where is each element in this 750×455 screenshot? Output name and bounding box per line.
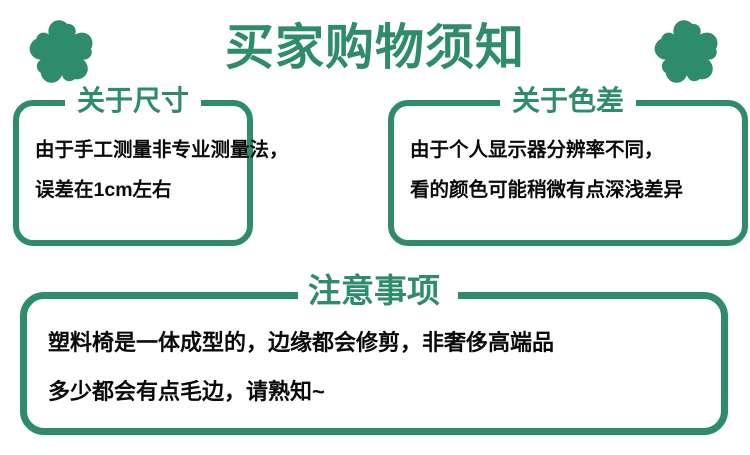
body-line: 看的颜色可能稍微有点深浅差异	[410, 170, 734, 210]
clover-icon	[644, 8, 730, 94]
shopping-notice-infographic: 买家购物须知	[0, 0, 750, 455]
panel-body-notice: 塑料椅是一体成型的，边缘都会修剪，非奢侈高端品 多少都会有点毛边，请熟知~	[48, 318, 712, 416]
panel-title-size: 关于尺寸	[13, 84, 253, 118]
panel-title-notice: 注意事项	[20, 270, 728, 312]
body-line: 多少都会有点毛边，请熟知~	[48, 367, 712, 416]
panel-notice: 注意事项 塑料椅是一体成型的，边缘都会修剪，非奢侈高端品 多少都会有点毛边，请熟…	[20, 292, 728, 435]
body-line: 塑料椅是一体成型的，边缘都会修剪，非奢侈高端品	[48, 318, 712, 367]
body-line: 误差在1cm左右	[35, 170, 239, 210]
body-line: 由于个人显示器分辨率不同，	[410, 130, 734, 170]
panel-body-color: 由于个人显示器分辨率不同， 看的颜色可能稍微有点深浅差异	[410, 130, 734, 210]
panel-title-color: 关于色差	[388, 84, 748, 118]
panel-color-difference: 关于色差 由于个人显示器分辨率不同， 看的颜色可能稍微有点深浅差异	[388, 100, 748, 246]
body-line: 由于手工测量非专业测量法，	[35, 130, 239, 170]
page-title: 买家购物须知	[0, 6, 750, 90]
panel-size: 关于尺寸 由于手工测量非专业测量法， 误差在1cm左右	[13, 100, 253, 246]
panel-body-size: 由于手工测量非专业测量法， 误差在1cm左右	[35, 130, 239, 210]
